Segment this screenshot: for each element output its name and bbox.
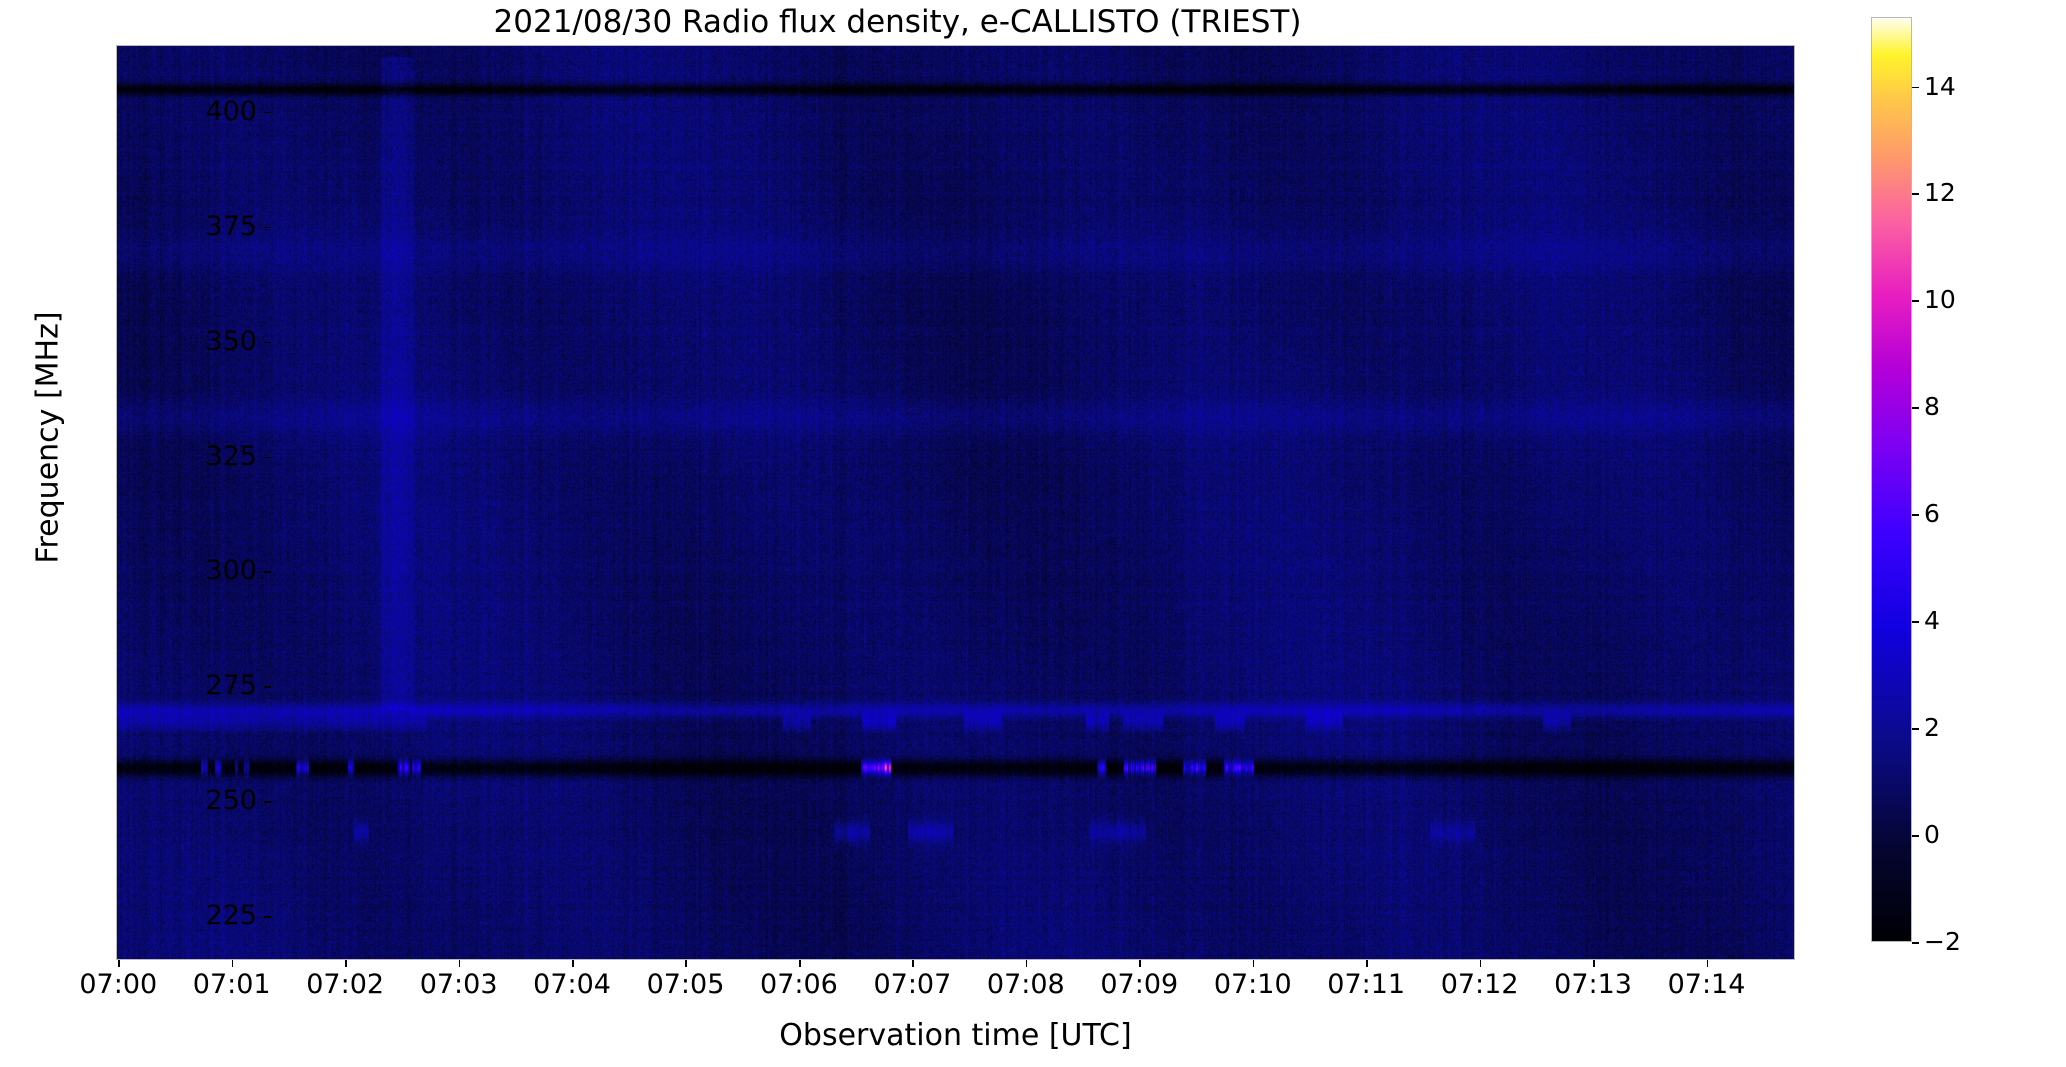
colorbar-tick-mark — [1912, 300, 1919, 302]
colorbar-tick-label: 14 — [1924, 72, 1956, 101]
y-tick-label: 225 — [205, 900, 257, 931]
y-tick-label: 375 — [205, 211, 257, 242]
y-axis-label: Frequency [MHz] — [31, 198, 66, 678]
y-tick-mark — [264, 801, 271, 803]
colorbar-tick-mark — [1912, 621, 1919, 623]
x-tick-label: 07:05 — [647, 969, 725, 1000]
x-tick-mark — [118, 960, 120, 967]
colorbar-tick-label: 2 — [1924, 713, 1940, 742]
y-tick-mark — [264, 571, 271, 573]
y-tick-label: 275 — [205, 670, 257, 701]
colorbar-tick-mark — [1912, 942, 1919, 944]
x-tick-mark — [1253, 960, 1255, 967]
y-tick-label: 300 — [205, 555, 257, 586]
y-tick-mark — [264, 342, 271, 344]
colorbar-tick-label: 4 — [1924, 606, 1940, 635]
x-tick-label: 07:07 — [873, 969, 951, 1000]
colorbar-tick-label: 10 — [1924, 285, 1956, 314]
colorbar-tick-mark — [1912, 514, 1919, 516]
colorbar-tick-label: 0 — [1924, 820, 1940, 849]
x-tick-mark — [685, 960, 687, 967]
spectrogram-axes[interactable] — [116, 45, 1795, 960]
x-tick-mark — [1366, 960, 1368, 967]
y-tick-mark — [264, 112, 271, 114]
colorbar-tick-label: 12 — [1924, 178, 1956, 207]
x-tick-mark — [1480, 960, 1482, 967]
x-axis-label: Observation time [UTC] — [116, 1018, 1795, 1053]
colorbar-tick-mark — [1912, 193, 1919, 195]
colorbar — [1871, 17, 1912, 942]
x-tick-mark — [1593, 960, 1595, 967]
spectrogram-canvas — [117, 46, 1795, 960]
x-tick-label: 07:01 — [193, 969, 271, 1000]
x-tick-label: 07:06 — [760, 969, 838, 1000]
y-tick-label: 350 — [205, 326, 257, 357]
x-tick-mark — [232, 960, 234, 967]
y-tick-label: 325 — [205, 441, 257, 472]
colorbar-tick-mark — [1912, 728, 1919, 730]
x-tick-mark — [1707, 960, 1709, 967]
x-tick-mark — [572, 960, 574, 967]
x-tick-mark — [799, 960, 801, 967]
y-tick-mark — [264, 227, 271, 229]
x-tick-label: 07:14 — [1668, 969, 1746, 1000]
chart-title: 2021/08/30 Radio flux density, e-CALLIST… — [0, 5, 1795, 39]
x-tick-label: 07:03 — [420, 969, 498, 1000]
colorbar-tick-mark — [1912, 835, 1919, 837]
spectrogram-image — [117, 46, 1794, 959]
x-tick-label: 07:13 — [1554, 969, 1632, 1000]
x-tick-label: 07:10 — [1214, 969, 1292, 1000]
x-tick-mark — [1026, 960, 1028, 967]
colorbar-tick-label: 8 — [1924, 392, 1940, 421]
x-tick-label: 07:11 — [1327, 969, 1405, 1000]
x-tick-mark — [345, 960, 347, 967]
y-tick-mark — [264, 686, 271, 688]
x-tick-mark — [912, 960, 914, 967]
colorbar-tick-label: −2 — [1924, 927, 1961, 956]
y-tick-label: 400 — [205, 96, 257, 127]
x-tick-label: 07:12 — [1441, 969, 1519, 1000]
x-tick-label: 07:04 — [533, 969, 611, 1000]
y-tick-mark — [264, 916, 271, 918]
y-tick-mark — [264, 457, 271, 459]
y-tick-label: 250 — [205, 785, 257, 816]
x-tick-mark — [459, 960, 461, 967]
x-tick-label: 07:02 — [306, 969, 384, 1000]
x-tick-mark — [1139, 960, 1141, 967]
colorbar-tick-mark — [1912, 407, 1919, 409]
x-tick-label: 07:09 — [1100, 969, 1178, 1000]
colorbar-tick-mark — [1912, 87, 1919, 89]
x-tick-label: 07:00 — [79, 969, 157, 1000]
x-tick-label: 07:08 — [987, 969, 1065, 1000]
figure-canvas: 2021/08/30 Radio flux density, e-CALLIST… — [0, 0, 2066, 1067]
colorbar-tick-label: 6 — [1924, 499, 1940, 528]
colorbar-gradient — [1872, 18, 1911, 941]
